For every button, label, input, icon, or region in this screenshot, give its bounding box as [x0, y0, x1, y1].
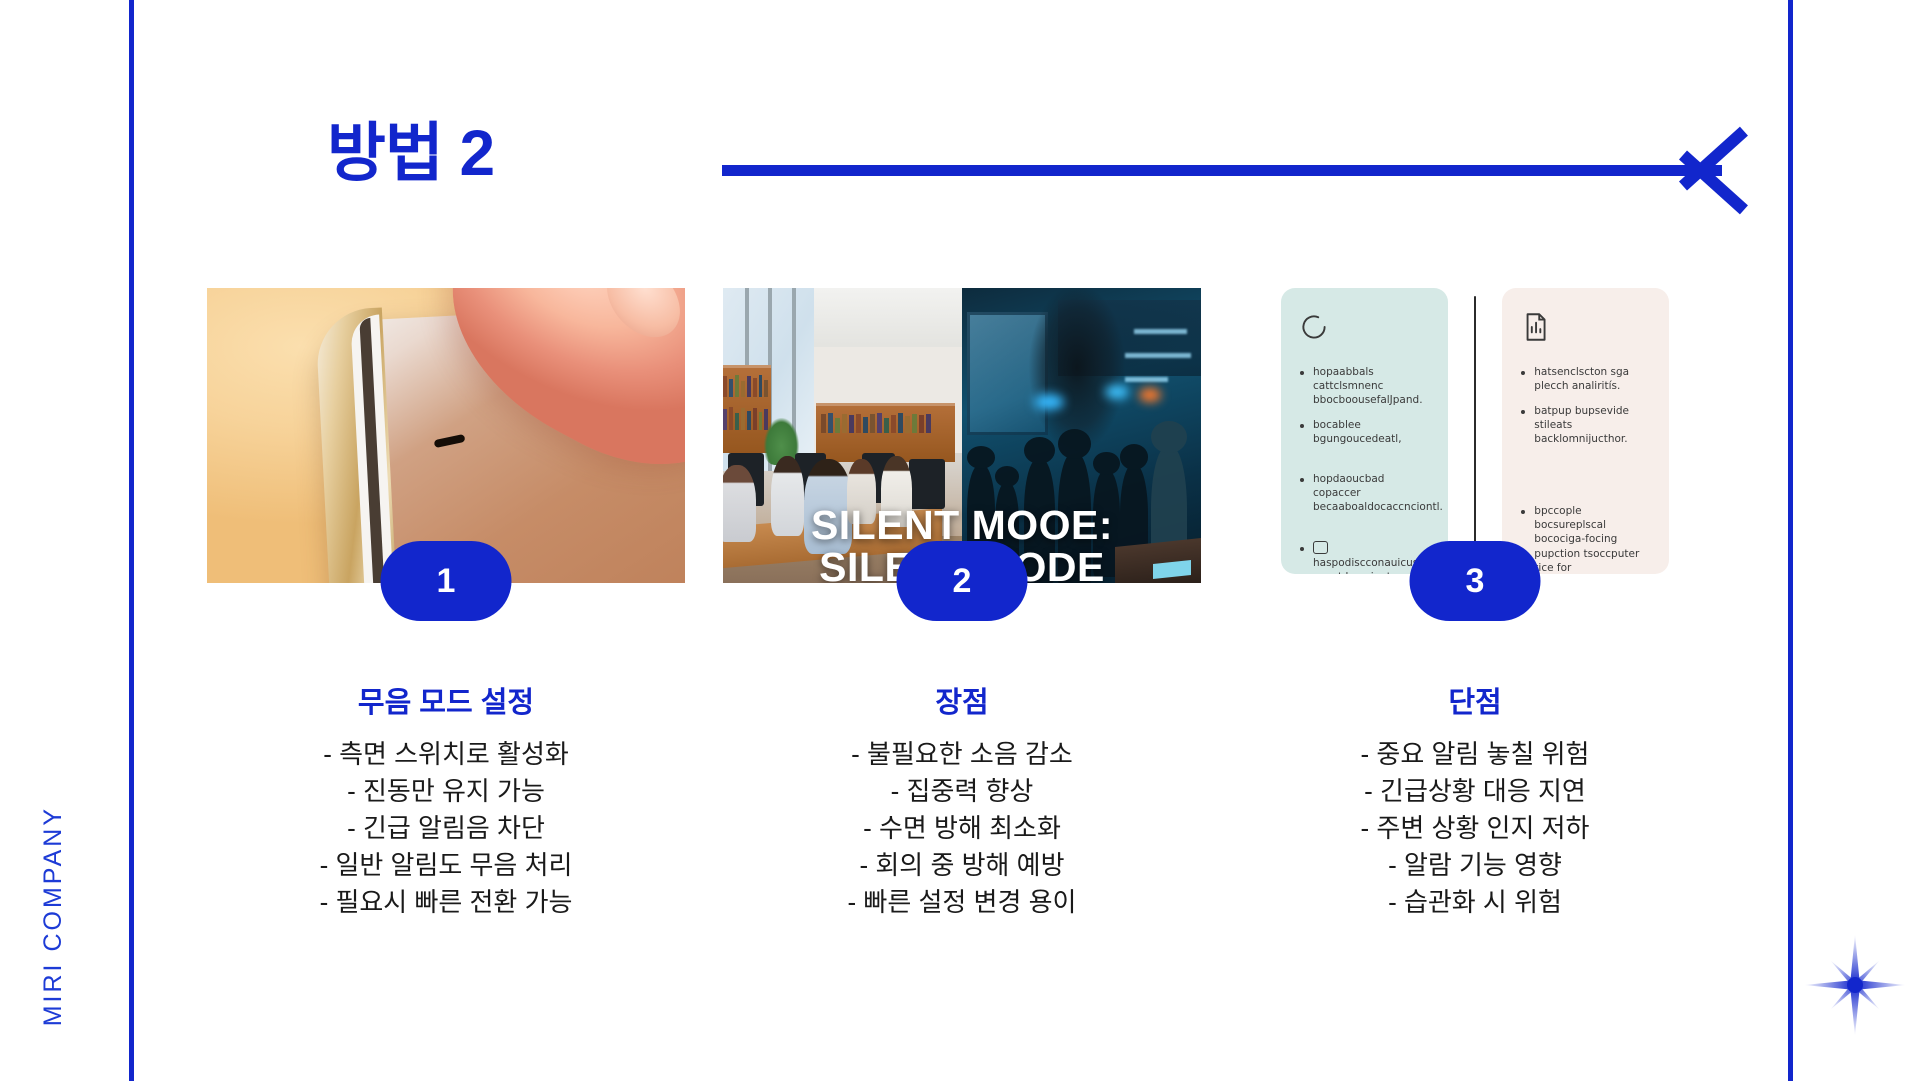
step-badge-1: 1	[381, 541, 512, 621]
column-1-heading: 무음 모드 설정	[207, 679, 685, 721]
column-2-image: SILENT MOOE: SILENT MODE	[723, 288, 1201, 583]
emergency-light-blue	[1034, 394, 1064, 410]
card-left-bullets: hopaabbals cattclsmnenc bbocboousefalJpa…	[1297, 365, 1432, 574]
list-item: - 불필요한 소음 감소	[723, 736, 1201, 773]
list-item: - 회의 중 방해 예방	[723, 847, 1201, 884]
books-row	[723, 374, 768, 398]
list-item: hopaabbals cattclsmnenc bbocboousefalJpa…	[1297, 365, 1432, 407]
cards-divider	[1474, 296, 1477, 576]
list-item: - 필요시 빠른 전환 가능	[207, 884, 685, 921]
column-1-image	[207, 288, 685, 583]
list-item: bocablee bgungoucedeatl,	[1297, 418, 1432, 446]
list-item: - 알람 기능 영향	[1267, 847, 1683, 884]
refresh-arc-icon	[1297, 310, 1331, 344]
list-item: - 집중력 향상	[723, 773, 1201, 810]
arrow-head	[1677, 125, 1792, 215]
list-item: - 측면 스위치로 활성화	[207, 736, 685, 773]
comparison-card-left: hopaabbals cattclsmnenc bbocboousefalJpa…	[1281, 288, 1448, 574]
office-ceiling	[814, 288, 962, 353]
column-3: hopaabbals cattclsmnenc bbocboousefalJpa…	[1267, 288, 1683, 583]
column-2-heading: 장점	[723, 679, 1201, 721]
list-item: - 긴급상황 대응 지연	[1267, 773, 1683, 810]
list-item: - 긴급 알림음 차단	[207, 810, 685, 847]
sparkle-icon	[1800, 930, 1910, 1040]
split-office-versus-emergency-illustration: SILENT MOOE: SILENT MODE	[723, 288, 1201, 583]
list-item: - 주변 상황 인지 저하	[1267, 810, 1683, 847]
column-2-body: - 불필요한 소음 감소 - 집중력 향상 - 수면 방해 최소화 - 회의 중…	[723, 736, 1201, 921]
brand-label: MIRI COMPANY	[39, 806, 68, 1026]
column-3-heading: 단점	[1267, 679, 1683, 721]
ceiling-light	[1134, 329, 1187, 334]
books-row	[821, 412, 950, 433]
list-item: hopdaoucbad copaccer becaaboaldocaccncio…	[1297, 472, 1432, 514]
comparison-card-right: hatsenclscton sga plecch analiritís. bat…	[1502, 288, 1669, 574]
column-2: SILENT MOOE: SILENT MODE 2 장점 - 불필요한 소음 …	[723, 288, 1201, 583]
left-border-rule	[129, 0, 134, 1081]
slide-root: 방법 2 1 무음 모드 설정 - 측면 스위치로 활성화 - 진동만 유지 가…	[0, 0, 1921, 1081]
books-row	[723, 406, 768, 430]
list-item: bpccople bocsureplscal bocociga-focing p…	[1518, 504, 1653, 574]
list-item: - 수면 방해 최소화	[723, 810, 1201, 847]
list-item: - 빠른 설정 변경 용이	[723, 884, 1201, 921]
progress-arrow-icon	[722, 125, 1792, 215]
document-chart-icon	[1518, 310, 1552, 344]
step-badge-2: 2	[897, 541, 1028, 621]
emergency-light-orange	[1139, 388, 1161, 402]
column-3-image: hopaabbals cattclsmnenc bbocboousefalJpa…	[1267, 288, 1683, 583]
card-right-bullets: hatsenclscton sga plecch analiritís. bat…	[1518, 365, 1653, 574]
column-1-body: - 측면 스위치로 활성화 - 진동만 유지 가능 - 긴급 알림음 차단 - …	[207, 736, 685, 921]
finger-pressing-phone-silent-switch-illustration	[207, 288, 685, 583]
list-item: - 중요 알림 놓칠 위험	[1267, 736, 1683, 773]
list-item: hatsenclscton sga plecch analiritís.	[1518, 365, 1653, 393]
arrow-shaft	[722, 165, 1722, 176]
list-item: - 진동만 유지 가능	[207, 773, 685, 810]
comparison-cards-illustration: hopaabbals cattclsmnenc bbocboousefalJpa…	[1267, 288, 1683, 583]
list-item: - 일반 알림도 무음 처리	[207, 847, 685, 884]
device-icon	[1313, 541, 1328, 554]
column-1: 1 무음 모드 설정 - 측면 스위치로 활성화 - 진동만 유지 가능 - 긴…	[207, 288, 685, 583]
fingertip	[593, 288, 685, 351]
list-item: - 습관화 시 위험	[1267, 884, 1683, 921]
list-item: batpup bupsevide stileats backlomnijucth…	[1518, 404, 1653, 446]
step-badge-3: 3	[1410, 541, 1541, 621]
column-3-body: - 중요 알림 놓칠 위험 - 긴급상황 대응 지연 - 주변 상황 인지 저하…	[1267, 736, 1683, 921]
page-title: 방법 2	[327, 121, 494, 185]
